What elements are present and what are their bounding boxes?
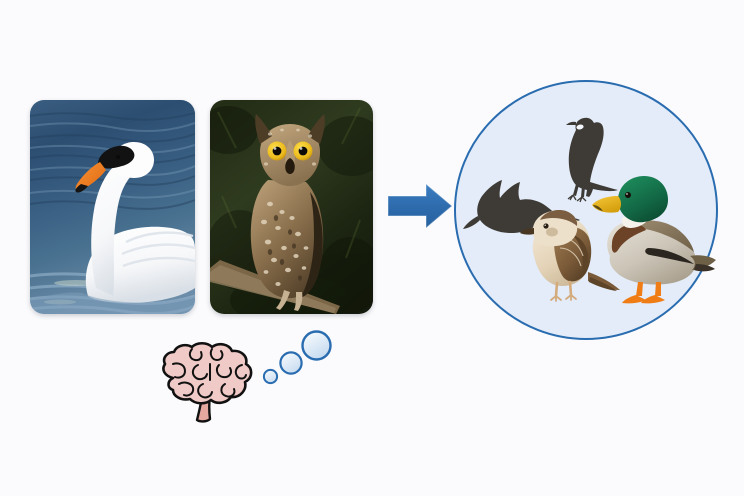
brain-icon bbox=[155, 340, 260, 425]
right-arrow-icon bbox=[386, 180, 454, 232]
owl-photo[interactable] bbox=[210, 100, 373, 314]
owl-photo-image bbox=[210, 100, 373, 314]
output-set-ellipse[interactable] bbox=[452, 78, 720, 343]
thought-bubble-large bbox=[300, 329, 333, 362]
thought-bubble-small bbox=[262, 368, 279, 385]
swan-photo[interactable] bbox=[30, 100, 195, 314]
figure-canvas bbox=[0, 0, 744, 496]
swan-photo-image bbox=[30, 100, 195, 314]
